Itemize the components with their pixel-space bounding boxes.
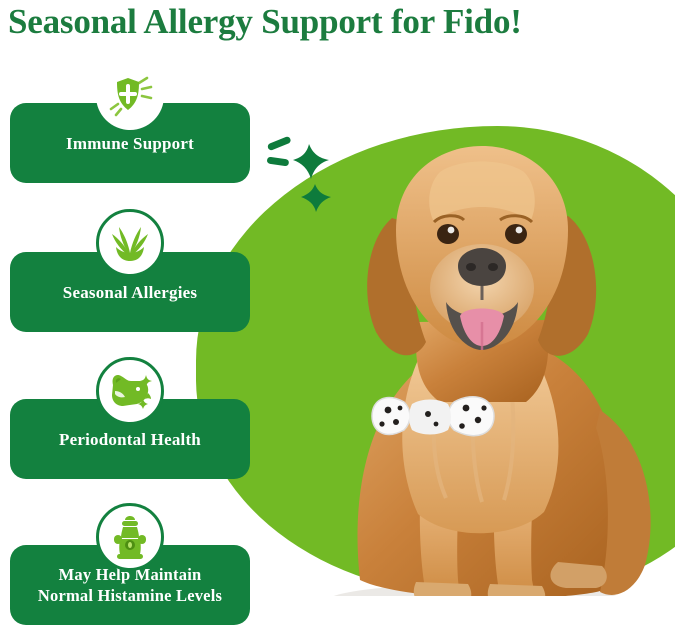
golden-retriever-photo [300, 110, 675, 620]
feature-card-label: Periodontal Health [49, 429, 211, 450]
feature-card-label: Seasonal Allergies [53, 282, 207, 303]
fire-hydrant-icon [96, 503, 164, 571]
dog-head-sparkle-icon [96, 357, 164, 425]
page-title: Seasonal Allergy Support for Fido! [8, 0, 668, 44]
infographic-canvas: Seasonal Allergy Support for Fido! [0, 0, 675, 630]
grass-pollen-icon [96, 209, 164, 277]
shield-plus-icon [96, 62, 164, 130]
pollen-particles-icon [265, 132, 355, 222]
feature-card-label: Immune Support [56, 133, 204, 154]
